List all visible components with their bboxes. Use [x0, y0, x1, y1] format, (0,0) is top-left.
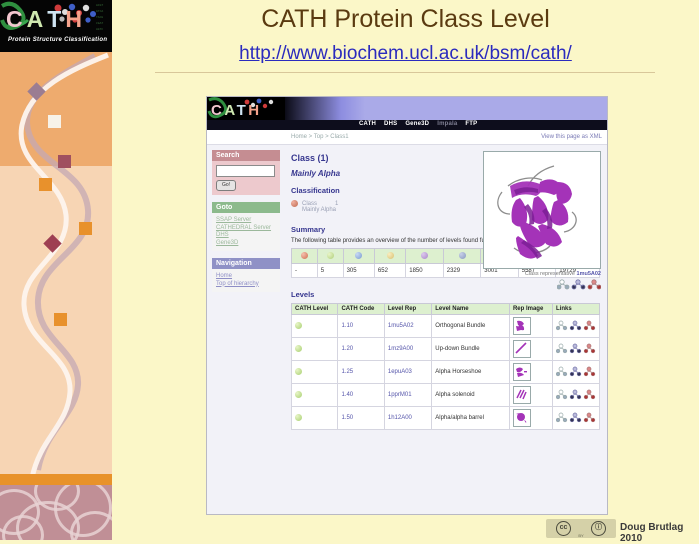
sidebar-item-gene3d[interactable]: Gene3D [216, 240, 276, 248]
structure-link-icons[interactable] [556, 320, 596, 331]
summary-value-c: - [292, 264, 318, 278]
site-body: Search Go! Goto SSAP Server CATHEDRAL Se… [207, 145, 607, 515]
sphere-o-icon [459, 252, 466, 259]
sidebar-goto-box: Goto SSAP Server CATHEDRAL Server DHS Ge… [212, 202, 280, 251]
level-links-cell[interactable] [553, 361, 600, 384]
sidebar-navigation-title: Navigation [212, 258, 280, 269]
cc-license-label: BY [556, 533, 606, 538]
levels-header-cath-code: CATH Code [338, 304, 384, 315]
class-representative-caption: Class representative 1mu5A02 [483, 271, 601, 277]
class-sphere-icon [291, 200, 298, 207]
summary-header-s [406, 249, 444, 264]
site-main-content: Class representative 1mu5A02 [284, 145, 607, 515]
svg-text:AGTC: AGTC [96, 28, 103, 31]
level-links-cell[interactable] [553, 407, 600, 430]
sidebar-item-cathedral-server[interactable]: CATHEDRAL Server [216, 225, 276, 233]
summary-header-h [374, 249, 405, 264]
helix-bead [54, 313, 67, 326]
level-links-cell[interactable] [553, 315, 600, 338]
level-sphere-cell [292, 384, 338, 407]
sphere-green-icon [295, 414, 302, 421]
search-input[interactable] [216, 165, 275, 177]
cath-logo-tagline: Protein Structure Classification [8, 37, 107, 43]
sphere-c-icon [301, 252, 308, 259]
site-nav-links: CATHDHSGene3DImpalaFTP [359, 121, 485, 127]
level-rep-image-cell[interactable] [509, 315, 552, 338]
summary-value-h: 652 [374, 264, 405, 278]
breadcrumb-bar: Home > Top > Class1 View this page as XM… [207, 130, 607, 145]
structure-link-icons[interactable] [556, 412, 596, 423]
site-logo-letter-a: A [224, 102, 236, 119]
band-orange-bar [0, 474, 112, 485]
level-code[interactable]: 1.50 [338, 407, 384, 430]
nav-item-dhs[interactable]: DHS [384, 121, 397, 127]
level-sphere-cell [292, 338, 338, 361]
level-rep[interactable]: 1epuA03 [384, 361, 431, 384]
level-sphere-cell [292, 315, 338, 338]
level-rep[interactable]: 1mz9A00 [384, 338, 431, 361]
levels-header-cath-level: CATH Level [292, 304, 338, 315]
rep-thumbnail[interactable] [513, 363, 531, 381]
site-logo-letter-h: H [248, 102, 261, 119]
summary-header-t [343, 249, 374, 264]
rep-thumbnail-graphic [514, 341, 528, 355]
level-rep-image-cell[interactable] [509, 338, 552, 361]
banner-gradient [285, 97, 365, 120]
levels-table: CATH Level CATH Code Level Rep Level Nam… [291, 303, 600, 430]
level-rep[interactable]: 1h12A00 [384, 407, 431, 430]
nav-item-gene3d[interactable]: Gene3D [405, 121, 429, 127]
title-divider [155, 72, 655, 73]
author-credit: Doug Brutlag 2010 [620, 522, 699, 544]
helix-bead [79, 222, 92, 235]
level-code[interactable]: 1.20 [338, 338, 384, 361]
class-representative-image [483, 151, 601, 269]
band-floral-pattern [0, 485, 112, 540]
sidebar-item-home[interactable]: Home [216, 273, 276, 281]
levels-header-links: Links [553, 304, 600, 315]
site-sidebar: Search Go! Goto SSAP Server CATHEDRAL Se… [207, 145, 284, 515]
nav-item-impala[interactable]: Impala [437, 121, 457, 127]
classification-row-number: 1 [335, 201, 338, 207]
rep-thumbnail[interactable] [513, 386, 531, 404]
structure-link-icons[interactable] [556, 343, 596, 354]
level-code[interactable]: 1.40 [338, 384, 384, 407]
search-go-button[interactable]: Go! [216, 180, 236, 191]
level-code[interactable]: 1.25 [338, 361, 384, 384]
site-logo-letter-c: C [211, 102, 224, 119]
helix-bead [58, 155, 71, 168]
sidebar-goto-title: Goto [212, 202, 280, 213]
sphere-green-icon [295, 322, 302, 329]
svg-text:GTCA: GTCA [96, 10, 103, 13]
nav-item-cath[interactable]: CATH [359, 121, 376, 127]
site-logo-letter-t: T [237, 102, 249, 119]
level-code[interactable]: 1.10 [338, 315, 384, 338]
cath-website-screenshot: CATH Protein Structure Classification CA… [206, 96, 608, 515]
svg-text:CGAT: CGAT [96, 22, 103, 25]
rep-thumbnail[interactable] [513, 409, 531, 427]
level-name: Alpha solenoid [432, 384, 510, 407]
helix-bead [39, 178, 52, 191]
logo-letter-a: A [27, 8, 48, 31]
logo-letter-c: C [6, 8, 27, 31]
summary-header-o [443, 249, 481, 264]
table-row[interactable]: 1.20 1mz9A00 Up-down Bundle [292, 338, 600, 361]
cath-logo-letters: CATH [6, 8, 86, 31]
sidebar-item-dhs[interactable]: DHS [216, 232, 276, 240]
helix-bead [48, 115, 61, 128]
classification-row-label: Class [302, 201, 317, 207]
sphere-green-icon [295, 391, 302, 398]
summary-value-t: 305 [343, 264, 374, 278]
table-row[interactable]: 1.25 1epuA03 Alpha Horseshoe [292, 361, 600, 384]
decorative-side-band [0, 0, 112, 540]
table-row[interactable]: 1.40 1pprM01 Alpha solenoid [292, 384, 600, 407]
level-name: Orthogonal Bundle [432, 315, 510, 338]
sidebar-navigation-box: Navigation Home Top of hierarchy [212, 258, 280, 292]
rep-caption-prefix: Class representative [525, 271, 575, 277]
source-url-link[interactable]: http://www.biochem.ucl.ac.uk/bsm/cath/ [239, 43, 572, 64]
level-sphere-cell [292, 361, 338, 384]
levels-header-level-name: Level Name [432, 304, 510, 315]
logo-letter-h: H [65, 8, 86, 31]
svg-text:TACG: TACG [96, 16, 103, 19]
structure-link-icons[interactable] [556, 366, 596, 377]
site-logo-letters: CATH [211, 103, 262, 118]
level-rep-image-cell[interactable] [509, 407, 552, 430]
level-name: Alpha/alpha barrel [432, 407, 510, 430]
sphere-green-icon [295, 368, 302, 375]
class-representative-box: Class representative 1mu5A02 [483, 151, 601, 292]
rep-caption-code[interactable]: 1mu5A02 [577, 271, 601, 277]
breadcrumb[interactable]: Home > Top > Class1 [291, 134, 349, 140]
sidebar-item-ssap-server[interactable]: SSAP Server [216, 217, 276, 225]
source-url: http://www.biochem.ucl.ac.uk/bsm/cath/ [112, 43, 699, 65]
summary-header-c [292, 249, 318, 264]
levels-header-level-rep: Level Rep [384, 304, 431, 315]
summary-value-o: 2329 [443, 264, 481, 278]
rep-thumbnail[interactable] [513, 317, 531, 335]
summary-value-s: 1850 [406, 264, 444, 278]
level-rep[interactable]: 1pprM01 [384, 384, 431, 407]
cath-logo: ACGTGTCATACG CGATAGTC CATH Protein Struc… [0, 0, 112, 52]
logo-letter-t: T [47, 8, 65, 31]
view-as-xml-link[interactable]: View this page as XML [541, 134, 602, 140]
rep-thumbnail-graphic [514, 318, 528, 332]
sidebar-search-title: Search [212, 150, 280, 161]
level-name: Up-down Bundle [432, 338, 510, 361]
level-sphere-cell [292, 407, 338, 430]
sphere-s-icon [421, 252, 428, 259]
page-title: CATH Protein Class Level [112, 5, 699, 34]
protein-ribbon-graphic [484, 152, 600, 268]
sidebar-search-box: Search Go! [212, 150, 280, 195]
sphere-a-icon [327, 252, 334, 259]
levels-header-rep-image: Rep Image [509, 304, 552, 315]
sphere-t-icon [355, 252, 362, 259]
svg-text:ACGT: ACGT [96, 4, 103, 7]
levels-header-row: CATH Level CATH Code Level Rep Level Nam… [292, 304, 600, 315]
level-links-cell[interactable] [553, 338, 600, 361]
rep-thumbnail-graphic [514, 410, 528, 424]
level-rep[interactable]: 1mu5A02 [384, 315, 431, 338]
rep-link-icons[interactable] [483, 278, 601, 292]
sphere-h-icon [387, 252, 394, 259]
table-row[interactable]: 1.10 1mu5A02 Orthogonal Bundle [292, 315, 600, 338]
nav-item-ftp[interactable]: FTP [465, 121, 477, 127]
structure-link-icons[interactable] [557, 278, 601, 290]
level-rep-image-cell[interactable] [509, 384, 552, 407]
summary-header-a [317, 249, 343, 264]
rep-thumbnail[interactable] [513, 340, 531, 358]
sidebar-item-top-of-hierarchy[interactable]: Top of hierarchy [216, 281, 276, 289]
creative-commons-badge[interactable]: cc ⓘ BY [546, 519, 616, 538]
level-name: Alpha Horseshoe [432, 361, 510, 384]
rep-thumbnail-graphic [514, 387, 528, 401]
summary-value-a: 5 [317, 264, 343, 278]
structure-link-icons[interactable] [556, 389, 596, 400]
site-banner: CATH Protein Structure Classification CA… [207, 97, 607, 130]
rep-thumbnail-graphic [514, 364, 528, 378]
level-rep-image-cell[interactable] [509, 361, 552, 384]
table-row[interactable]: 1.50 1h12A00 Alpha/alpha barrel [292, 407, 600, 430]
level-links-cell[interactable] [553, 384, 600, 407]
sphere-green-icon [295, 345, 302, 352]
